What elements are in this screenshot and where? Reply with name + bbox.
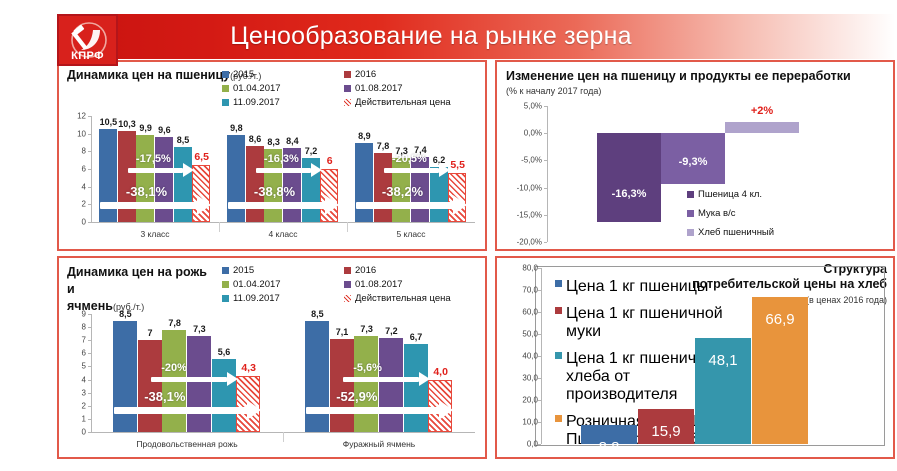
category-separator xyxy=(283,432,284,442)
y-axis-tick xyxy=(538,378,541,379)
y-axis-tick-label: 4 xyxy=(82,375,86,384)
y-axis-tick-label: 0 xyxy=(82,428,86,437)
wheat-legend-item: 01.08.2017 xyxy=(344,83,494,94)
panel-change-subtitle: (% к началу 2017 года) xyxy=(506,86,601,96)
arrow-head xyxy=(439,163,450,177)
y-axis-tick-label: 5,0% xyxy=(524,102,542,111)
x-axis-category-label: Фуражный ячмень xyxy=(283,439,475,449)
legend-label: Цена 1 кг пшеничной муки xyxy=(566,305,730,341)
y-axis-tick-label: 6 xyxy=(82,165,86,174)
bar-value-label: 8,5 xyxy=(300,309,335,319)
arrow-shaft xyxy=(384,168,439,173)
bar-value-label: 8,9 xyxy=(350,131,379,141)
category-separator xyxy=(219,222,220,232)
legend-swatch-icon xyxy=(687,191,694,198)
bar xyxy=(330,339,354,432)
legend-swatch-icon xyxy=(344,71,351,78)
arrow-shaft xyxy=(151,377,226,382)
arrow-shaft xyxy=(256,168,311,173)
legend-swatch-icon xyxy=(222,85,229,92)
arrow-shaft xyxy=(128,168,183,173)
arrow-shaft xyxy=(343,377,418,382)
y-axis-tick-label: 1 xyxy=(82,414,86,423)
legend-item: Мука в/с xyxy=(687,204,774,223)
y-axis-tick-label: 60,0 xyxy=(522,308,538,317)
legend-label: Цена 1 кг пшеницы xyxy=(566,278,708,296)
arrow-head xyxy=(197,195,211,215)
percent-change-label: -5,6% xyxy=(353,362,382,374)
waterfall-bar xyxy=(725,122,799,133)
x-axis-category-label: Продовольственная рожь xyxy=(91,439,283,449)
arrow-head xyxy=(227,372,238,386)
legend-label: Мука в/с xyxy=(698,208,736,219)
y-axis-tick xyxy=(88,353,91,354)
legend-swatch-icon xyxy=(222,71,229,78)
x-axis-category-label: 5 класс xyxy=(347,229,475,239)
y-axis-tick-label: 7 xyxy=(82,336,86,345)
y-axis-tick-label: 8 xyxy=(82,323,86,332)
trend-arrow xyxy=(128,166,194,175)
kprf-logo: КПРФ xyxy=(57,14,118,66)
waterfall-value-label: +2% xyxy=(725,105,799,117)
page-title: Ценообразование на рынке зерна xyxy=(57,14,895,59)
y-axis-tick xyxy=(88,314,91,315)
percent-change-label: -38,8% xyxy=(254,184,295,199)
rye-legend-item: 01.08.2017 xyxy=(344,279,494,290)
y-axis xyxy=(541,268,542,444)
y-axis-tick xyxy=(544,188,547,189)
y-axis-tick-label: 2 xyxy=(82,200,86,209)
arrow-shaft xyxy=(306,407,439,414)
trend-arrow xyxy=(343,375,429,384)
legend-rye: 2015201601.04.201701.08.201711.09.2017Де… xyxy=(222,263,494,305)
y-axis xyxy=(91,314,92,432)
legend-label: Хлеб пшеничный xyxy=(698,227,774,238)
panel-change-title: Изменение цен на пшеницу и продукты ее п… xyxy=(506,69,886,83)
bar xyxy=(404,344,428,432)
bar xyxy=(138,340,162,432)
bar-value-label: 8,8 xyxy=(581,439,637,456)
arrow-head xyxy=(453,195,467,215)
arrow-head xyxy=(311,163,322,177)
legend-swatch-icon xyxy=(222,281,229,288)
bar-value-label: 8,5 xyxy=(169,135,198,145)
panel-wheat-prices: Динамика цен на пшеницу(руб./т.) 2015201… xyxy=(57,60,487,251)
legend-item: Цена 1 кг пшеничной муки xyxy=(555,305,730,341)
trend-arrow xyxy=(228,199,339,211)
y-axis-tick xyxy=(88,419,91,420)
chart-rye-barley-prices: 01234567898,577,87,35,64,3Продовольствен… xyxy=(69,302,479,454)
chart-bread-structure: 0,010,020,030,040,050,060,070,080,0Цена … xyxy=(501,262,891,456)
wheat-legend-item: 01.04.2017 xyxy=(222,83,340,94)
legend-swatch-icon xyxy=(555,352,562,359)
y-axis-tick xyxy=(538,422,541,423)
bar-value-label: 66,9 xyxy=(752,311,808,328)
legend-item: Хлеб пшеничный xyxy=(687,223,774,242)
chart-wheat-prices: 02468101210,510,39,99,68,56,53 класс-17,… xyxy=(69,104,479,244)
legend-swatch-icon xyxy=(222,267,229,274)
y-axis-tick-label: 40,0 xyxy=(522,352,538,361)
percent-change-label: -52,9% xyxy=(336,389,377,404)
y-axis-tick xyxy=(544,160,547,161)
y-axis-tick-label: 3 xyxy=(82,388,86,397)
slide: Ценообразование на рынке зерна КПРФ Дина… xyxy=(0,0,897,471)
trend-arrow xyxy=(356,199,467,211)
waterfall-value-label: -16,3% xyxy=(597,188,661,200)
y-axis-tick-label: 20,0 xyxy=(522,396,538,405)
bar-value-label: 6,7 xyxy=(399,332,434,342)
y-axis-tick-label: 2 xyxy=(82,401,86,410)
arrow-shaft xyxy=(114,407,247,414)
bar-value-label: 6,5 xyxy=(187,151,216,163)
y-axis-tick xyxy=(544,133,547,134)
x-axis-category-label: 3 класс xyxy=(91,229,219,239)
y-axis-tick xyxy=(88,134,91,135)
y-axis-tick-label: -10,0% xyxy=(517,183,542,192)
legend-swatch-icon xyxy=(687,229,694,236)
legend-swatch-icon xyxy=(555,415,562,422)
y-axis-tick xyxy=(88,432,91,433)
legend-label: 01.04.2017 xyxy=(233,83,281,94)
percent-change-label: -38,1% xyxy=(144,389,185,404)
y-axis xyxy=(91,116,92,222)
arrow-head xyxy=(247,400,261,420)
legend-label: 2015 xyxy=(233,69,254,80)
legend-swatch-icon xyxy=(344,267,351,274)
y-axis-tick xyxy=(88,380,91,381)
bar-value-label: 9,6 xyxy=(150,125,179,135)
y-axis-tick-label: -20,0% xyxy=(517,238,542,247)
bar-value-label: 48,1 xyxy=(695,352,751,369)
arrow-shaft xyxy=(228,202,325,209)
trend-arrow xyxy=(256,166,322,175)
y-axis-tick-label: 6 xyxy=(82,349,86,358)
y-axis-tick xyxy=(544,215,547,216)
bar-value-label: 7,3 xyxy=(182,324,217,334)
y-axis-tick-label: 10,0 xyxy=(522,418,538,427)
legend-label: 01.08.2017 xyxy=(355,83,403,94)
legend-item: Цена 1 кг пшеницы xyxy=(555,278,730,296)
legend-swatch-icon xyxy=(344,85,351,92)
wheat-legend-item: 2016 xyxy=(344,69,494,80)
panel-rye-barley-prices: Динамика цен на рожь и ячмень(руб./т.) 2… xyxy=(57,256,487,459)
percent-change-label: -38,1% xyxy=(126,184,167,199)
x-axis xyxy=(91,222,475,223)
waterfall-bar xyxy=(597,133,661,222)
y-axis-tick-label: -15,0% xyxy=(517,210,542,219)
percent-change-label: -20% xyxy=(161,362,187,374)
legend-price-change: Пшеница 4 кл.Мука в/сХлеб пшеничный xyxy=(687,185,774,242)
legend-swatch-icon xyxy=(555,280,562,287)
panel-wheat-title-text: Динамика цен на пшеницу xyxy=(67,68,230,82)
legend-label: 01.08.2017 xyxy=(355,279,403,290)
bar xyxy=(354,336,378,432)
y-axis-tick-label: 0,0% xyxy=(524,129,542,138)
trend-arrow xyxy=(306,404,453,416)
legend-label: Пшеница 4 кл. xyxy=(698,189,762,200)
chart-price-change: 5,0%0,0%-5,0%-10,0%-15,0%-20,0%-16,3%-9,… xyxy=(503,98,891,250)
bar-value-label: 8,5 xyxy=(108,309,143,319)
percent-change-label: -16,3% xyxy=(264,153,299,165)
trend-arrow xyxy=(114,404,261,416)
legend-label: 2016 xyxy=(355,69,376,80)
y-axis-tick xyxy=(538,356,541,357)
y-axis-tick xyxy=(88,393,91,394)
y-axis-tick-label: 50,0 xyxy=(522,330,538,339)
trend-arrow xyxy=(100,199,211,211)
y-axis-tick xyxy=(88,151,91,152)
panel-price-change: Изменение цен на пшеницу и продукты ее п… xyxy=(495,60,895,251)
y-axis-tick xyxy=(538,290,541,291)
arrow-head xyxy=(439,400,453,420)
rye-legend-item: 2015 xyxy=(222,265,340,276)
y-axis-tick xyxy=(538,334,541,335)
legend-swatch-icon xyxy=(687,210,694,217)
y-axis-tick-label: -5,0% xyxy=(521,156,542,165)
category-separator xyxy=(347,222,348,232)
legend-item: Пшеница 4 кл. xyxy=(687,185,774,204)
panel-rye-title-line1: Динамика цен на рожь и xyxy=(67,265,207,296)
y-axis xyxy=(547,106,548,242)
legend-label: 2016 xyxy=(355,265,376,276)
y-axis-tick xyxy=(538,444,541,445)
y-axis-tick xyxy=(538,312,541,313)
wheat-legend-item: 2015 xyxy=(222,69,340,80)
y-axis-tick-label: 4 xyxy=(82,182,86,191)
y-axis-tick-label: 0,0 xyxy=(527,440,538,449)
y-axis-tick-label: 5 xyxy=(82,362,86,371)
legend-swatch-icon xyxy=(344,281,351,288)
kprf-logo-text: КПРФ xyxy=(59,50,116,62)
arrow-shaft xyxy=(356,202,453,209)
rye-legend-item: 01.04.2017 xyxy=(222,279,340,290)
cropped-heading-strip xyxy=(0,0,897,9)
y-axis-tick-label: 9 xyxy=(82,310,86,319)
percent-change-label: -38,2% xyxy=(382,184,423,199)
y-axis-tick xyxy=(88,366,91,367)
y-axis-tick xyxy=(88,340,91,341)
panel-bread-structure: Структура потребительской цены на хлеб (… xyxy=(495,256,895,459)
legend-label: 01.04.2017 xyxy=(233,279,281,290)
y-axis-tick xyxy=(544,106,547,107)
legend-swatch-icon xyxy=(344,295,351,302)
y-axis-tick xyxy=(538,268,541,269)
y-axis-tick-label: 70,0 xyxy=(522,286,538,295)
y-axis-tick xyxy=(544,242,547,243)
y-axis-tick-label: 12 xyxy=(77,112,86,121)
waterfall-value-label: -9,3% xyxy=(661,156,725,168)
y-axis-tick-label: 10 xyxy=(77,129,86,138)
header-banner: Ценообразование на рынке зерна xyxy=(57,14,895,59)
bar xyxy=(379,338,403,432)
legend-label: 2015 xyxy=(233,265,254,276)
bar-value-label: 8,4 xyxy=(278,136,307,146)
y-axis-tick xyxy=(88,187,91,188)
percent-change-label: -17,5% xyxy=(136,153,171,165)
arrow-head xyxy=(183,163,194,177)
percent-change-label: -20,5% xyxy=(392,153,427,165)
y-axis-tick xyxy=(88,406,91,407)
y-axis-tick xyxy=(88,222,91,223)
legend-wheat: 2015201601.04.201701.08.201711.09.2017Де… xyxy=(222,67,494,109)
y-axis-tick xyxy=(538,400,541,401)
y-axis-tick xyxy=(88,204,91,205)
y-axis-tick xyxy=(88,169,91,170)
trend-arrow xyxy=(384,166,450,175)
y-axis-tick xyxy=(88,327,91,328)
legend-swatch-icon xyxy=(222,295,229,302)
arrow-shaft xyxy=(100,202,197,209)
x-axis-category-label: 4 класс xyxy=(219,229,347,239)
legend-swatch-icon xyxy=(555,307,562,314)
arrow-head xyxy=(325,195,339,215)
y-axis-tick xyxy=(88,116,91,117)
y-axis-tick-label: 30,0 xyxy=(522,374,538,383)
y-axis-tick-label: 0 xyxy=(82,218,86,227)
bar-value-label: 9,8 xyxy=(222,123,251,133)
trend-arrow xyxy=(151,375,237,384)
rye-legend-item: 2016 xyxy=(344,265,494,276)
bar-value-label: 5,6 xyxy=(207,347,242,357)
y-axis-tick-label: 80,0 xyxy=(522,264,538,273)
arrow-head xyxy=(419,372,430,386)
bar-value-label: 15,9 xyxy=(638,423,694,440)
y-axis-tick-label: 8 xyxy=(82,147,86,156)
